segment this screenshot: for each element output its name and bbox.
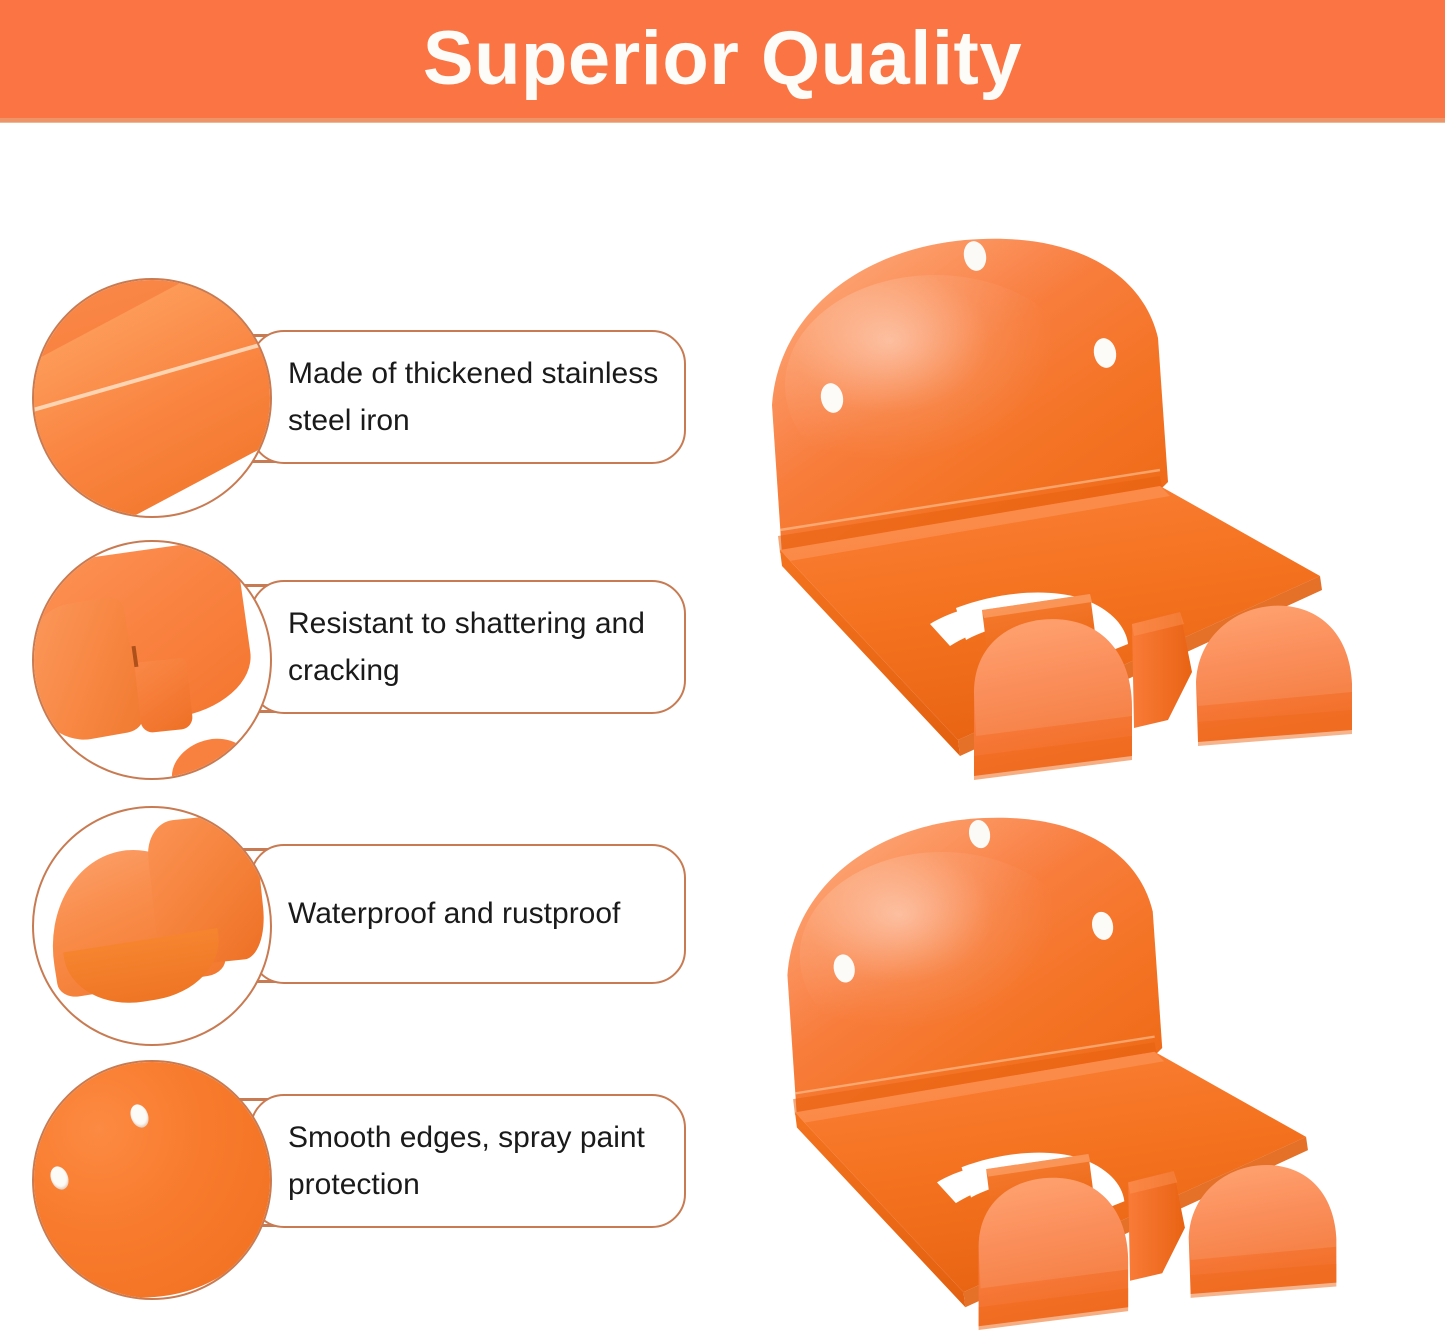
bracket-rounded-hook-tip-closeup-icon xyxy=(34,808,270,1044)
bracket-hook-arm-closeup-icon xyxy=(34,542,270,778)
orange-wall-mount-bracket-icon xyxy=(760,800,1360,1330)
feature-label-durability: Resistant to shattering and cracking xyxy=(288,600,684,695)
header-banner: Superior Quality xyxy=(0,0,1445,122)
detail-circle-weatherproof xyxy=(32,806,272,1046)
detail-circle-durability xyxy=(32,540,272,780)
callout-box-material: Made of thickened stainless steel iron xyxy=(250,330,686,464)
bracket-folded-edge-closeup-icon xyxy=(34,280,270,516)
detail-circle-material xyxy=(32,278,272,518)
callout-box-durability: Resistant to shattering and cracking xyxy=(250,580,686,714)
page-title: Superior Quality xyxy=(423,21,1022,97)
feature-label-finish: Smooth edges, spray paint protection xyxy=(288,1114,684,1209)
product-photo-top xyxy=(760,220,1360,780)
orange-wall-mount-bracket-icon xyxy=(760,220,1360,780)
feature-label-weatherproof: Waterproof and rustproof xyxy=(288,890,620,937)
callout-box-finish: Smooth edges, spray paint protection xyxy=(250,1094,686,1228)
bracket-backplate-mounting-holes-closeup-icon xyxy=(34,1062,270,1298)
detail-circle-finish xyxy=(32,1060,272,1300)
header-banner-underline xyxy=(0,118,1445,123)
feature-label-material: Made of thickened stainless steel iron xyxy=(288,350,684,445)
callout-box-weatherproof: Waterproof and rustproof xyxy=(250,844,686,984)
infographic-page: Superior Quality Made of thickened stain… xyxy=(0,0,1445,1335)
product-photo-bottom xyxy=(760,800,1360,1330)
